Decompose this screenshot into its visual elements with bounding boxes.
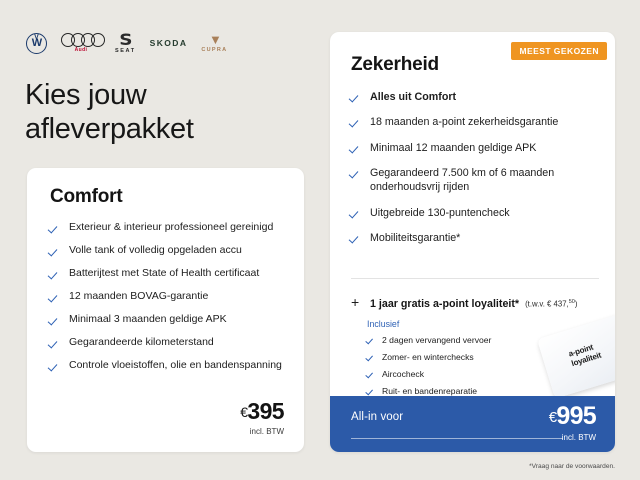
- list-item: Controle vloeistoffen, olie en bandenspa…: [50, 359, 288, 373]
- zekerheid-price-block: €995 incl. BTW: [549, 404, 596, 442]
- check-icon: [50, 269, 60, 281]
- audi-rings-icon: [61, 33, 101, 47]
- loyalty-value-prefix: (t.w.v. € 437,: [525, 300, 569, 309]
- feature-text: Minimaal 3 maanden geldige APK: [69, 313, 227, 327]
- loyalty-label: 1 jaar gratis a-point loyaliteit*: [370, 298, 519, 310]
- check-icon: [50, 361, 60, 373]
- package-card-zekerheid[interactable]: MEEST GEKOZEN Zekerheid Alles uit Comfor…: [330, 32, 615, 452]
- zekerheid-price-amount: 995: [556, 402, 596, 430]
- check-icon: [367, 336, 375, 346]
- feature-text: 18 maanden a-point zekerheidsgarantie: [370, 115, 558, 129]
- divider: [351, 278, 599, 279]
- list-item: Exterieur & interieur professioneel gere…: [50, 221, 288, 235]
- check-icon: [351, 233, 361, 245]
- check-icon: [351, 168, 361, 180]
- footer-rule: [351, 438, 563, 439]
- seat-logo: S SEAT: [115, 32, 136, 55]
- comfort-title: Comfort: [50, 186, 122, 208]
- feature-text: 12 maanden BOVAG-garantie: [69, 290, 208, 304]
- check-icon: [50, 315, 60, 327]
- list-item: Aircocheck: [367, 369, 557, 380]
- feature-text: Controle vloeistoffen, olie en bandenspa…: [69, 359, 282, 373]
- list-item: Uitgebreide 130-puntencheck: [351, 206, 601, 220]
- comfort-price-amount: 395: [247, 398, 284, 424]
- inclusief-block: Inclusief 2 dagen vervangend vervoer Zom…: [367, 319, 557, 403]
- check-icon: [50, 338, 60, 350]
- inclusief-title: Inclusief: [367, 319, 557, 329]
- check-icon: [50, 292, 60, 304]
- skoda-logo: SKODA: [150, 39, 188, 48]
- list-item: 12 maanden BOVAG-garantie: [50, 290, 288, 304]
- audi-wordmark: Audi: [75, 48, 88, 53]
- check-icon: [351, 143, 361, 155]
- check-icon: [351, 208, 361, 220]
- loyalty-value-suffix: ): [575, 300, 578, 309]
- feature-text: Alles uit Comfort: [370, 90, 456, 104]
- audi-logo: Audi: [61, 33, 101, 53]
- seat-wordmark: SEAT: [115, 49, 136, 55]
- feature-text: Gegarandeerd 7.500 km of 6 maanden onder…: [370, 166, 601, 195]
- feature-text: Minimaal 12 maanden geldige APK: [370, 141, 536, 155]
- cupra-icon: ▼: [209, 33, 220, 46]
- volkswagen-logo: [26, 33, 47, 54]
- comfort-feature-list: Exterieur & interieur professioneel gere…: [50, 221, 288, 382]
- inclusief-text: Aircocheck: [382, 369, 424, 380]
- zekerheid-feature-list: Alles uit Comfort 18 maanden a-point zek…: [351, 90, 601, 256]
- list-item: Zomer- en winterchecks: [367, 352, 557, 363]
- comfort-price-block: €395 incl. BTW: [240, 400, 284, 436]
- comfort-price-vat: incl. BTW: [240, 427, 284, 436]
- list-item: Minimaal 3 maanden geldige APK: [50, 313, 288, 327]
- loyalty-bonus-row: + 1 jaar gratis a-point loyaliteit* (t.w…: [351, 295, 603, 310]
- list-item: 2 dagen vervangend vervoer: [367, 335, 557, 346]
- volkswagen-icon: [26, 33, 47, 54]
- feature-text: Gegarandeerde kilometerstand: [69, 336, 214, 350]
- feature-text: Exterieur & interieur professioneel gere…: [69, 221, 273, 235]
- package-card-comfort[interactable]: Comfort Exterieur & interieur profession…: [27, 168, 304, 452]
- feature-text: Volle tank of volledig opgeladen accu: [69, 244, 242, 258]
- status-badge: MEEST GEKOZEN: [511, 42, 607, 60]
- check-icon: [351, 117, 361, 129]
- loyalty-value: (t.w.v. € 437,50): [525, 299, 577, 309]
- check-icon: [367, 353, 375, 363]
- check-icon: [50, 246, 60, 258]
- promo-canvas: Audi S SEAT SKODA ▼ CUPRA Kies jouw afle…: [0, 0, 640, 480]
- inclusief-text: 2 dagen vervangend vervoer: [382, 335, 491, 346]
- list-item: Alles uit Comfort: [351, 90, 601, 104]
- list-item: Batterijtest met State of Health certifi…: [50, 267, 288, 281]
- zekerheid-price-vat: incl. BTW: [549, 433, 596, 442]
- zekerheid-title: Zekerheid: [351, 54, 439, 76]
- seat-icon: S: [119, 32, 131, 48]
- plus-icon: +: [351, 297, 361, 309]
- cupra-logo: ▼ CUPRA: [201, 33, 227, 54]
- list-item: Gegarandeerd 7.500 km of 6 maanden onder…: [351, 166, 601, 195]
- list-item: Gegarandeerde kilometerstand: [50, 336, 288, 350]
- check-icon: [351, 92, 361, 104]
- check-icon: [50, 223, 60, 235]
- inclusief-text: Zomer- en winterchecks: [382, 352, 474, 363]
- cupra-wordmark: CUPRA: [201, 48, 227, 54]
- comfort-price: €395: [240, 400, 284, 423]
- zekerheid-price-footer: All-in voor €995 incl. BTW: [330, 396, 615, 452]
- brand-logo-bar: Audi S SEAT SKODA ▼ CUPRA: [26, 30, 227, 56]
- inclusief-list: 2 dagen vervangend vervoer Zomer- en win…: [367, 335, 557, 397]
- disclaimer-text: *Vraag naar de voorwaarden.: [529, 463, 615, 470]
- page-title: Kies jouw afleverpakket: [25, 79, 295, 147]
- feature-text: Mobiliteitsgarantie*: [370, 231, 460, 245]
- list-item: 18 maanden a-point zekerheidsgarantie: [351, 115, 601, 129]
- allin-label: All-in voor: [351, 411, 403, 423]
- list-item: Minimaal 12 maanden geldige APK: [351, 141, 601, 155]
- zekerheid-price: €995: [549, 404, 596, 429]
- skoda-wordmark: SKODA: [150, 39, 188, 48]
- list-item: Mobiliteitsgarantie*: [351, 231, 601, 245]
- feature-text: Uitgebreide 130-puntencheck: [370, 206, 510, 220]
- list-item: Volle tank of volledig opgeladen accu: [50, 244, 288, 258]
- feature-text: Batterijtest met State of Health certifi…: [69, 267, 259, 281]
- check-icon: [367, 370, 375, 380]
